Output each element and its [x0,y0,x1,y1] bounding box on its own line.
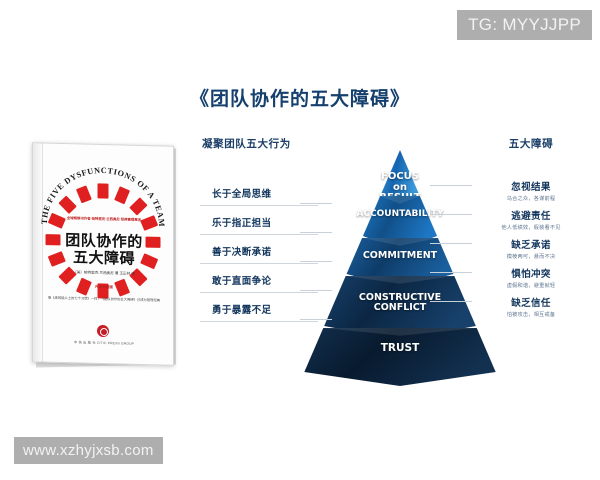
book-cover-image: THE FIVE DYSFUNCTIONS OF A TEAM 全球畅销书作者 … [32,144,180,369]
telegram-tag-watermark: TG: MYYJJPP [457,10,592,40]
book-publisher: 中 信 出 版 社 CITIC PRESS GROUP [61,339,147,346]
pyramid-tier-face [304,328,495,386]
site-url-watermark: www.xzhyjxsb.com [14,437,163,464]
behaviors-column: 凝聚团队五大行为 长于全局思维乐于指正担当善于决断承诺敢于直面争论勇于暴露不足 [188,136,328,151]
poster-canvas: TG: MYYJJPP 《团队协作的五大障碍》 THE FIVE DYSFUNC… [0,0,600,480]
pyramid-tier-label: TRUST [300,343,500,354]
pyramid-tier-label: COMMITMENT [300,251,500,261]
book-arc-title: THE FIVE DYSFUNCTIONS OF A TEAM [33,161,173,234]
connector-line-right [430,272,472,273]
pyramid-diagram: FOCUSonRESULTACCOUNTABILITYCOMMITMENTCON… [300,150,500,375]
connector-line-left [300,261,332,262]
publisher-seal-icon [97,325,109,337]
pyramid-tier-label: CONSTRUCTIVECONFLICT [300,293,500,313]
dysfunctions-column: 五大障碍 忽视结果乌合之众，各谋前程逃避责任他人低绩效，假装看不见缺乏承诺模棱两… [470,136,592,151]
book-cn-title-line2: 五大障碍 [45,249,163,269]
dysfunctions-column-header: 五大障碍 [470,136,592,151]
pyramid-tier-5[interactable]: TRUST [300,328,500,396]
connector-line-right [430,243,472,244]
connector-line-right [430,214,472,215]
connector-line-left [300,203,332,204]
book-cn-title: 团队协作的 五大障碍 [45,232,163,269]
connector-line-left [300,290,332,291]
book-front-face: THE FIVE DYSFUNCTIONS OF A TEAM 全球畅销书作者 … [32,142,174,365]
page-title: 《团队协作的五大障碍》 [0,84,600,111]
behaviors-column-header: 凝聚团队五大行为 [188,136,328,151]
connector-line-right [430,185,472,186]
connector-line-right [430,301,472,302]
connector-line-left [300,319,332,320]
connector-line-left [300,232,332,233]
